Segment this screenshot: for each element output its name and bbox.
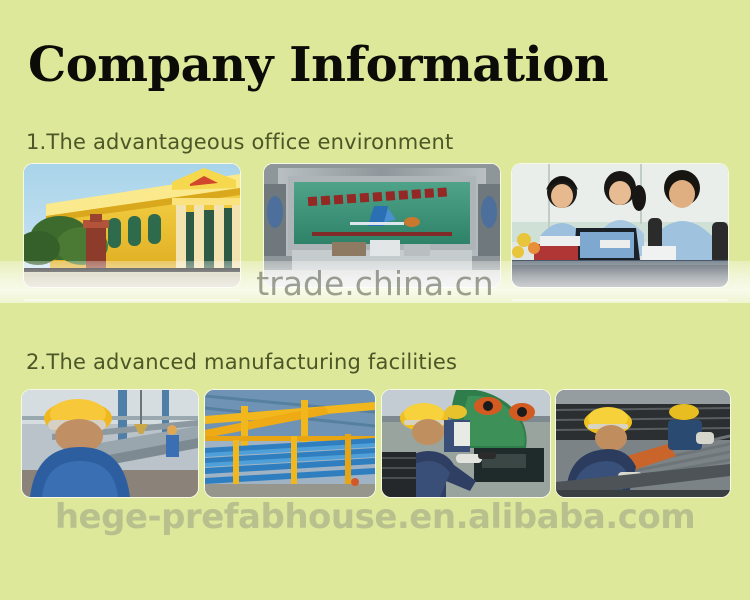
photo-crane-workshop	[205, 390, 375, 497]
photo-machining-worker	[382, 390, 550, 497]
photo-underline	[512, 299, 728, 301]
watermark-alibaba-url: hege-prefabhouse.en.alibaba.com	[0, 497, 750, 537]
photo-office-staff	[512, 164, 728, 287]
crane-workshop-illustration	[205, 390, 375, 497]
page-title: Company Information	[28, 36, 608, 94]
welding-workers-illustration	[556, 390, 730, 497]
machining-worker-illustration	[382, 390, 550, 497]
photo-row-office	[0, 164, 750, 289]
photo-welding-workers	[556, 390, 730, 497]
section-heading-office-environment: 1.The advantageous office environment	[26, 130, 453, 154]
company-information-banner: Company Information 1.The advantageous o…	[0, 0, 750, 600]
section-heading-manufacturing-facilities: 2.The advanced manufacturing facilities	[26, 350, 457, 374]
beam-assembly-illustration	[22, 390, 198, 497]
photo-row-manufacturing	[0, 390, 750, 498]
office-building-illustration	[24, 164, 240, 287]
reception-lobby-illustration	[264, 164, 500, 287]
photo-reception-lobby	[264, 164, 500, 287]
photo-beam-assembly	[22, 390, 198, 497]
photo-office-building	[24, 164, 240, 287]
photo-underline	[24, 299, 240, 301]
office-staff-illustration	[512, 164, 728, 287]
